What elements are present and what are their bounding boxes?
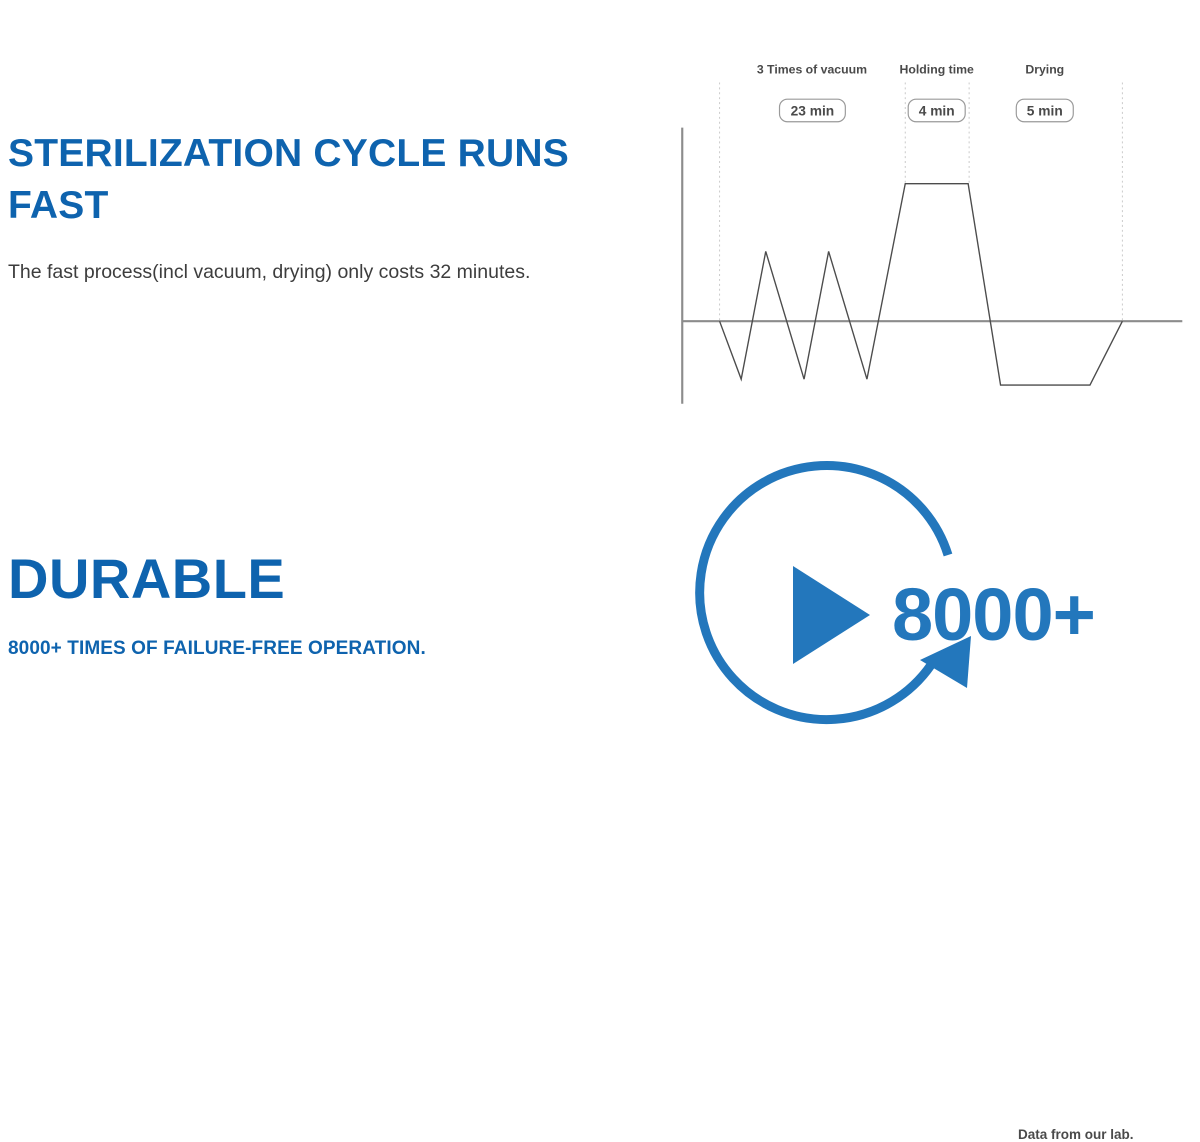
duration-badge-drying-label: 5 min	[1027, 103, 1063, 118]
duration-badge-vacuum-label: 23 min	[791, 103, 835, 118]
data-source-note: Data from our lab.	[1018, 1127, 1134, 1142]
sterilization-cycle-chart: 3 Times of vacuum Holding time Drying 23…	[640, 20, 1200, 420]
phase-title-drying: Drying	[1025, 63, 1064, 77]
sterilization-body-text: The fast process(incl vacuum, drying) on…	[8, 254, 588, 290]
cycle-trace-line	[720, 184, 1123, 385]
durable-heading: DURABLE	[8, 547, 285, 611]
duration-badge-vacuum: 23 min	[780, 99, 846, 122]
durable-subheading: 8000+ TIMES OF FAILURE-FREE OPERATION.	[8, 635, 426, 663]
duration-badge-drying: 5 min	[1016, 99, 1073, 122]
durable-section: DURABLE 8000+ TIMES OF FAILURE-FREE OPER…	[0, 430, 1200, 791]
phase-title-holding: Holding time	[900, 63, 974, 77]
sterilization-heading: STERILIZATION CYCLE RUNS FAST	[8, 128, 588, 232]
play-triangle-icon	[793, 566, 870, 664]
durability-count-label: 8000+	[892, 573, 1095, 656]
duration-badge-holding: 4 min	[908, 99, 965, 122]
duration-badge-holding-label: 4 min	[919, 103, 955, 118]
durability-graphic: 8000+	[660, 450, 1200, 770]
sterilization-section: STERILIZATION CYCLE RUNS FAST The fast p…	[0, 0, 1200, 430]
phase-title-vacuum: 3 Times of vacuum	[757, 63, 867, 77]
